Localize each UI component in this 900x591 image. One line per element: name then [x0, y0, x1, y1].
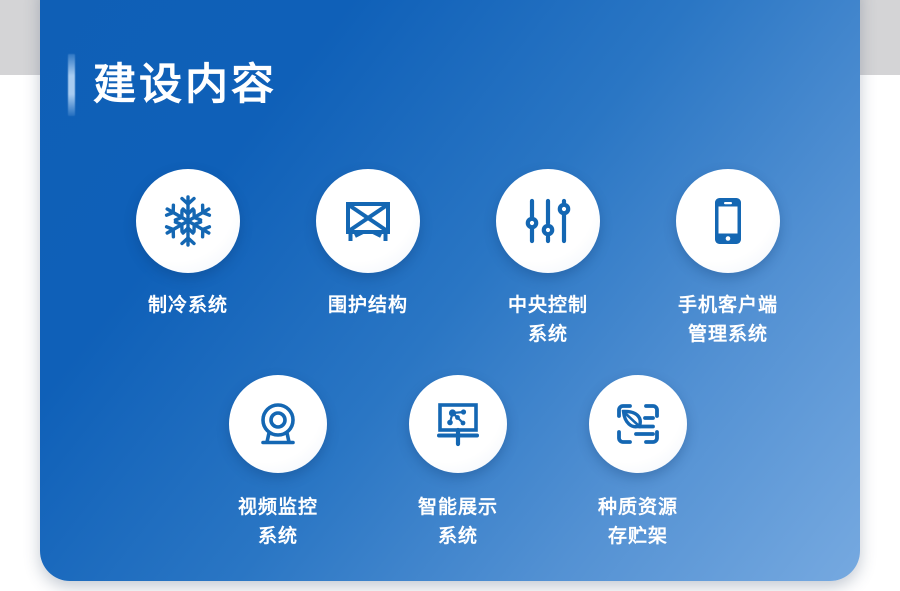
feature-label: 制冷系统 [148, 291, 228, 320]
surveillance-camera-icon [252, 398, 304, 450]
feature-item-germplasm-rack[interactable]: 种质资源 存贮架 [548, 375, 728, 552]
icon-circle [316, 169, 420, 273]
icon-circle [229, 375, 327, 473]
infographic-slide: 建设内容 [0, 0, 900, 591]
display-board-icon [432, 398, 484, 450]
feature-label: 种质资源 存贮架 [598, 493, 678, 552]
feature-item-refrigeration[interactable]: 制冷系统 [98, 169, 278, 350]
truss-frame-icon [341, 194, 395, 248]
feature-item-envelope-structure[interactable]: 围护结构 [278, 169, 458, 350]
icon-circle [496, 169, 600, 273]
feature-item-central-control[interactable]: 中央控制 系统 [458, 169, 638, 350]
leaf-document-icon [612, 398, 664, 450]
icon-circle [136, 169, 240, 273]
icon-circle [409, 375, 507, 473]
feature-label: 视频监控 系统 [238, 493, 318, 552]
feature-label: 围护结构 [328, 291, 408, 320]
feature-row-1: 制冷系统 [98, 169, 818, 350]
feature-item-mobile-client[interactable]: 手机客户端 管理系统 [638, 169, 818, 350]
feature-row-2: 视频监控 系统 [188, 375, 728, 552]
snowflake-icon [160, 193, 216, 249]
icon-circle [589, 375, 687, 473]
title-accent-bar [68, 54, 75, 116]
page-title: 建设内容 [93, 64, 277, 107]
header: 建设内容 [68, 54, 277, 116]
feature-item-video-surveillance[interactable]: 视频监控 系统 [188, 375, 368, 552]
sliders-icon [522, 195, 574, 247]
content-panel: 建设内容 [40, 0, 860, 581]
feature-label: 中央控制 系统 [508, 291, 588, 350]
feature-label: 智能展示 系统 [418, 493, 498, 552]
feature-label: 手机客户端 管理系统 [678, 291, 778, 350]
icon-circle [676, 169, 780, 273]
smartphone-icon [702, 195, 754, 247]
feature-item-smart-display[interactable]: 智能展示 系统 [368, 375, 548, 552]
